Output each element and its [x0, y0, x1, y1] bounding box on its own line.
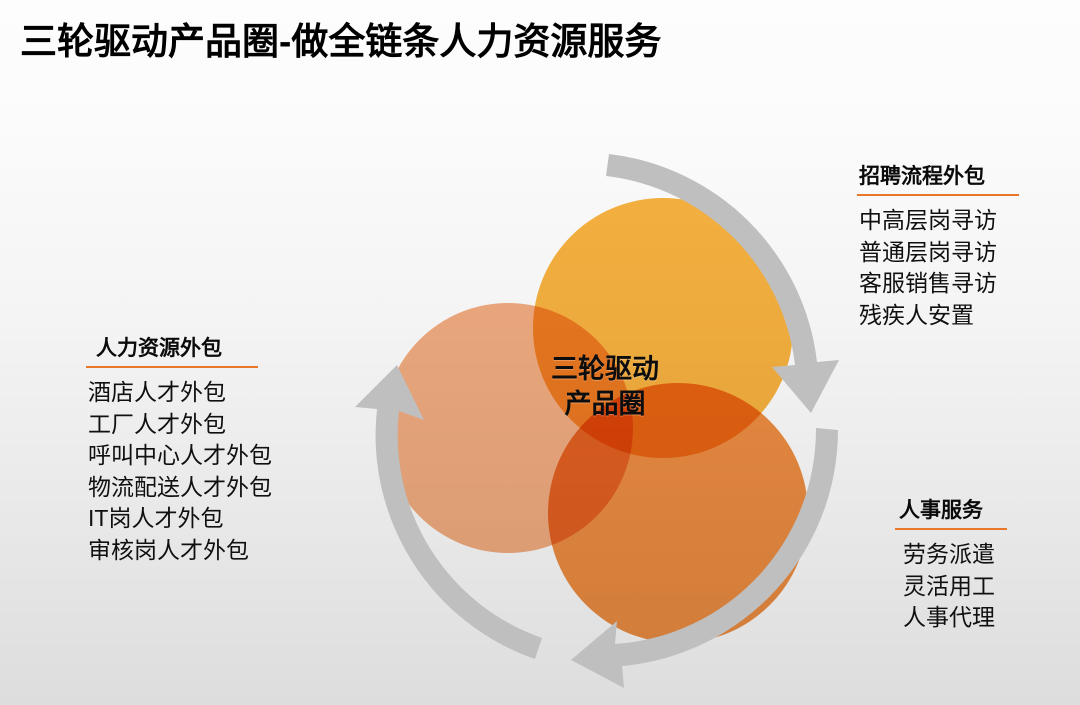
center-label-line2: 产品圈 — [565, 389, 646, 419]
block-personnel-rule — [895, 528, 1007, 530]
list-item: 人事代理 — [903, 602, 1007, 634]
block-personnel-heading: 人事服务 — [895, 498, 1007, 528]
block-recruitment-items: 中高层岗寻访 普通层岗寻访 客服销售寻访 残疾人安置 — [857, 205, 1019, 331]
center-label-line1: 三轮驱动 — [551, 354, 659, 384]
list-item: 审核岗人才外包 — [88, 535, 272, 567]
list-item: 呼叫中心人才外包 — [88, 440, 272, 472]
block-hr-outsourcing-heading: 人力资源外包 — [86, 336, 272, 366]
list-item: 普通层岗寻访 — [859, 237, 1019, 269]
slide-canvas: 三轮驱动产品圈-做全链条人力资源服务 三轮驱动 产品圈 人力资源外包 酒店人才外… — [0, 0, 1080, 705]
block-recruitment: 招聘流程外包 中高层岗寻访 普通层岗寻访 客服销售寻访 残疾人安置 — [857, 164, 1019, 331]
block-hr-outsourcing-items: 酒店人才外包 工厂人才外包 呼叫中心人才外包 物流配送人才外包 IT岗人才外包 … — [86, 377, 272, 566]
list-item: 残疾人安置 — [859, 300, 1019, 332]
block-hr-outsourcing-rule — [86, 366, 258, 368]
list-item: IT岗人才外包 — [88, 503, 272, 535]
center-label: 三轮驱动 产品圈 — [505, 352, 705, 421]
block-personnel-items: 劳务派遣 灵活用工 人事代理 — [895, 539, 1007, 634]
block-recruitment-rule — [857, 194, 1019, 196]
list-item: 酒店人才外包 — [88, 377, 272, 409]
list-item: 劳务派遣 — [903, 539, 1007, 571]
circle-personnel — [548, 383, 808, 643]
block-hr-outsourcing: 人力资源外包 酒店人才外包 工厂人才外包 呼叫中心人才外包 物流配送人才外包 I… — [86, 336, 272, 566]
venn-diagram: 三轮驱动 产品圈 — [330, 130, 850, 690]
list-item: 中高层岗寻访 — [859, 205, 1019, 237]
list-item: 客服销售寻访 — [859, 268, 1019, 300]
block-personnel: 人事服务 劳务派遣 灵活用工 人事代理 — [895, 498, 1007, 634]
list-item: 灵活用工 — [903, 571, 1007, 603]
list-item: 物流配送人才外包 — [88, 472, 272, 504]
list-item: 工厂人才外包 — [88, 409, 272, 441]
page-title: 三轮驱动产品圈-做全链条人力资源服务 — [20, 22, 661, 63]
block-recruitment-heading: 招聘流程外包 — [857, 164, 1019, 194]
